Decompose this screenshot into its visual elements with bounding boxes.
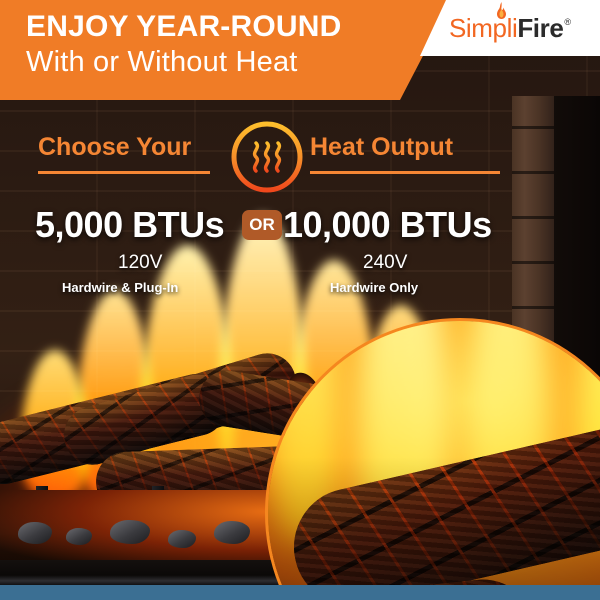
choose-your-underline: [38, 171, 210, 174]
choose-your-group: Choose Your: [38, 134, 210, 174]
wiring-right: Hardwire Only: [330, 280, 418, 295]
log-detail-magnifier: Detailed Log Set & Efficient LED Lightin…: [265, 318, 600, 600]
heat-output-underline: [310, 171, 500, 174]
wiring-left: Hardwire & Plug-In: [62, 280, 178, 295]
heat-output-group: Heat Output: [310, 134, 500, 174]
magnifier-content: [265, 318, 600, 600]
heat-waves-icon: [229, 119, 305, 195]
btu-comparison: 5,000 BTUs OR 10,000 BTUs 120V 240V Hard…: [0, 204, 600, 250]
voltage-left: 120V: [118, 252, 162, 274]
coal-lump: [66, 528, 92, 545]
bottom-color-strip: [0, 585, 600, 600]
coal-lump: [168, 530, 196, 548]
coal-lump: [18, 522, 52, 544]
btu-value-right: 10,000 BTUs: [283, 204, 492, 246]
logo-text-fire: Fire: [517, 13, 563, 44]
banner-subhead: With or Without Heat: [26, 47, 298, 77]
choose-your-label: Choose Your: [38, 134, 210, 162]
coal-lump: [214, 521, 250, 544]
header-banner: ENJOY YEAR-ROUND With or Without Heat: [0, 0, 452, 100]
magnifier-vignette: [265, 318, 600, 600]
or-badge: OR: [242, 210, 282, 240]
banner-headline: ENJOY YEAR-ROUND: [26, 11, 342, 43]
coal-lump: [110, 520, 150, 544]
voltage-right: 240V: [363, 252, 407, 274]
btu-value-left: 5,000 BTUs: [35, 204, 224, 246]
promo-image: ENJOY YEAR-ROUND With or Without Heat Si…: [0, 0, 600, 600]
registered-trademark-icon: ®: [564, 17, 571, 27]
brand-logo: Simpli Fire ®: [449, 13, 571, 44]
flame-icon: [495, 2, 508, 19]
btu-values-row: 5,000 BTUs OR 10,000 BTUs: [0, 204, 600, 250]
brand-logo-plate[interactable]: Simpli Fire ®: [420, 0, 600, 56]
heat-output-label: Heat Output: [310, 134, 500, 162]
